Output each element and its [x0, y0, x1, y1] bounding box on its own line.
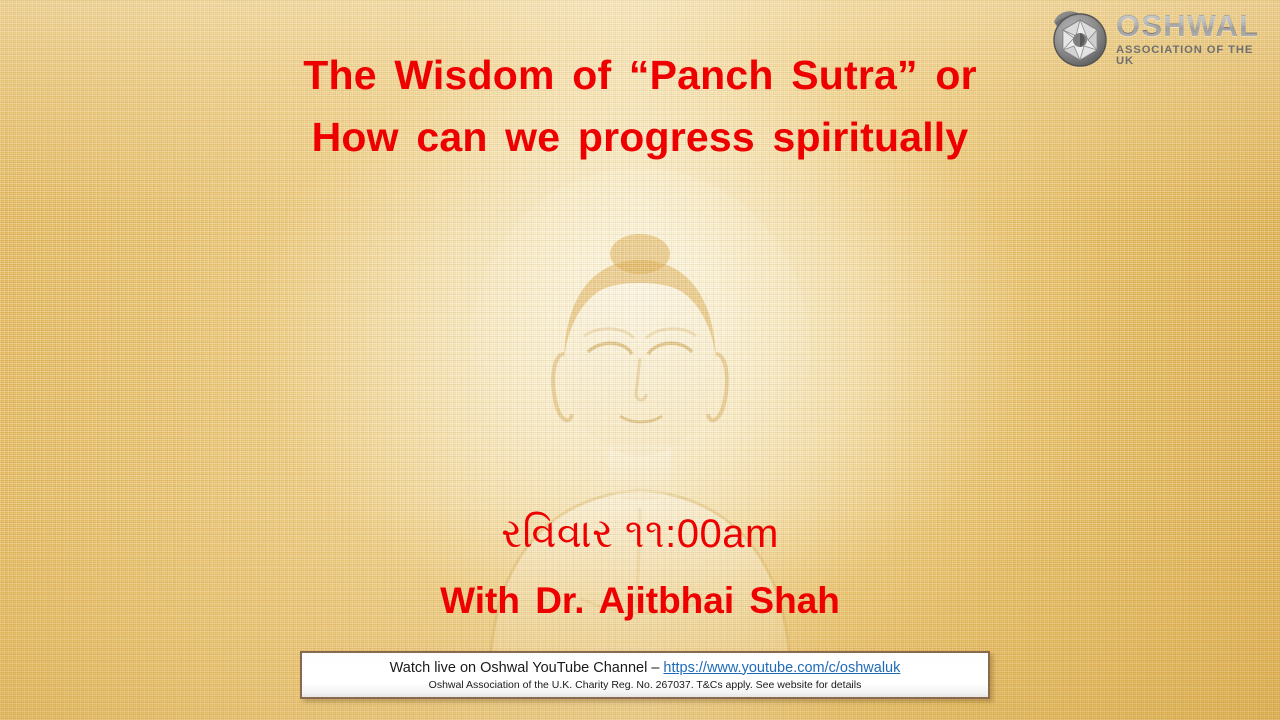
footer-watch-prefix: Watch live on Oshwal YouTube Channel –	[390, 660, 664, 676]
event-presenter: With Dr. Ajitbhai Shah	[0, 576, 1280, 626]
title-line-1: The Wisdom of “Panch Sutra” or	[0, 44, 1280, 106]
footer-info-box: Watch live on Oshwal YouTube Channel – h…	[300, 651, 990, 699]
event-time: રવિવાર ૧૧:00am	[0, 508, 1280, 560]
slide-title: The Wisdom of “Panch Sutra” or How can w…	[0, 44, 1280, 168]
presentation-slide: OSHWAL ASSOCIATION OF THE UK The Wisdom …	[0, 0, 1280, 720]
footer-small-print: Oshwal Association of the U.K. Charity R…	[429, 678, 862, 692]
logo-word: OSHWAL	[1116, 10, 1266, 41]
footer-watch-line: Watch live on Oshwal YouTube Channel – h…	[390, 659, 901, 677]
youtube-channel-link[interactable]: https://www.youtube.com/c/oshwaluk	[663, 660, 900, 676]
title-line-2: How can we progress spiritually	[0, 106, 1280, 168]
